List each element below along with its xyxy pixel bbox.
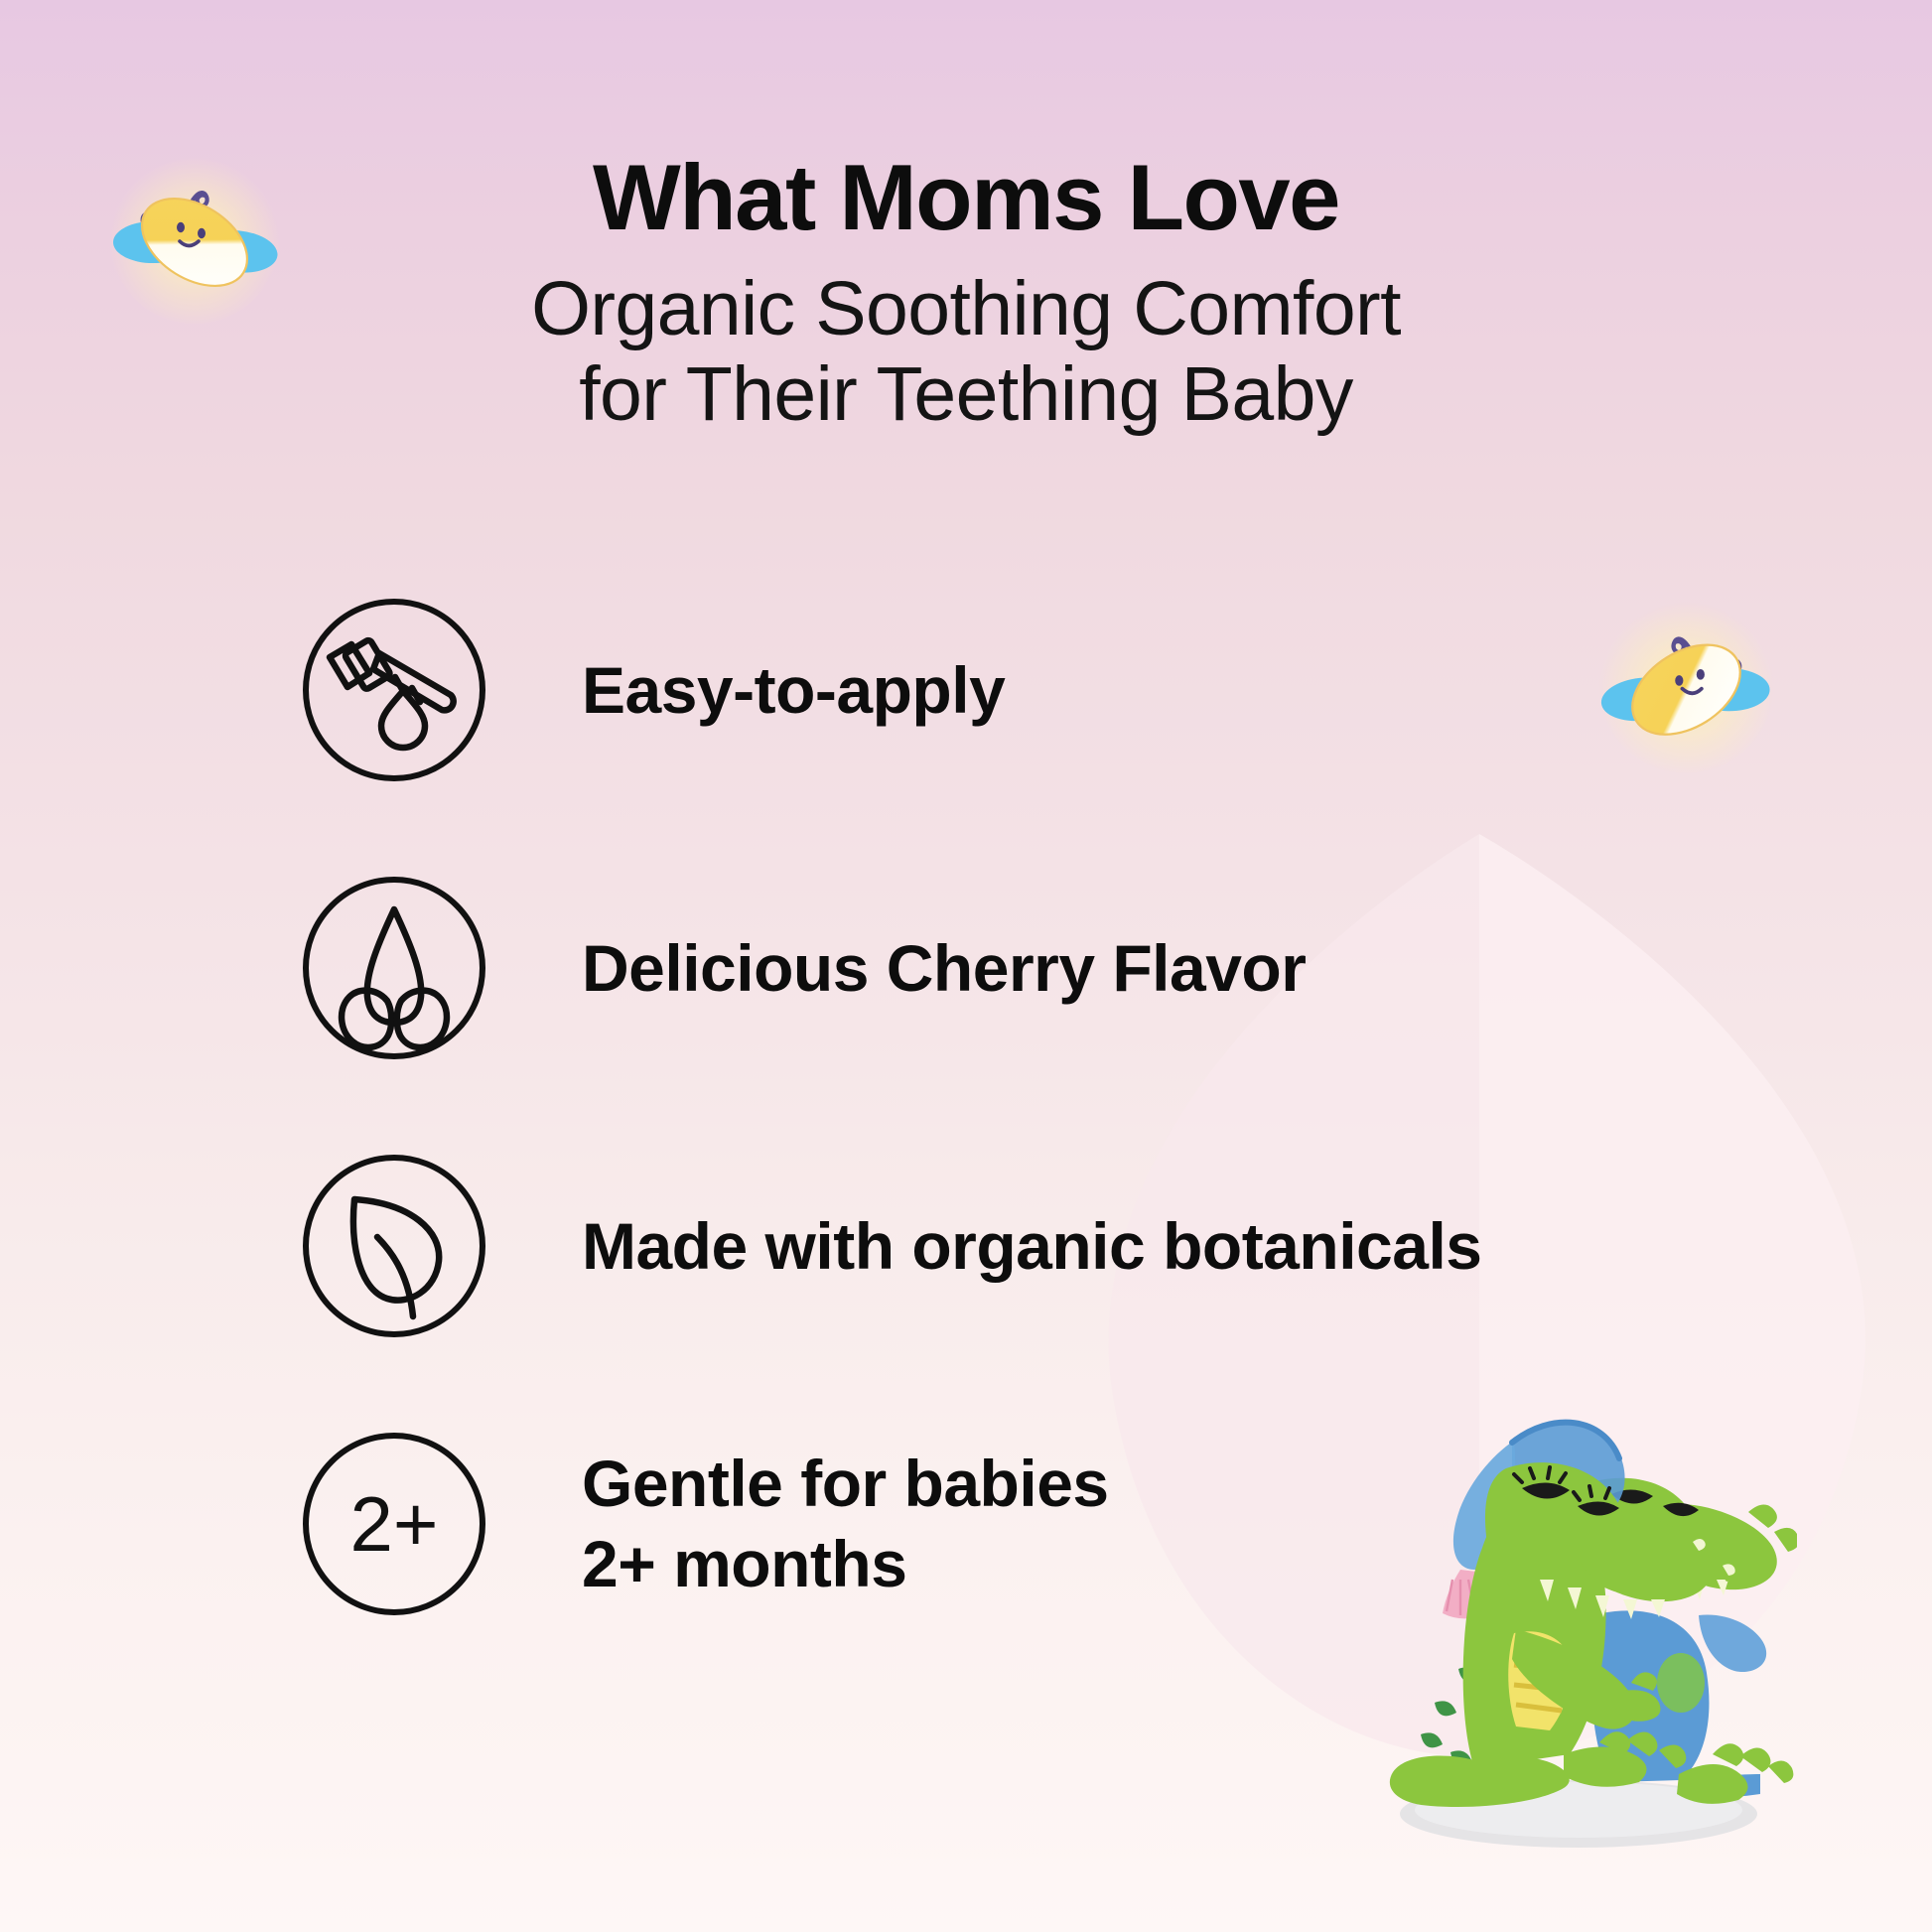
page-subtitle: Organic Soothing Comfort for Their Teeth… (0, 266, 1932, 437)
dropper-icon (300, 596, 488, 784)
list-item-label: Delicious Cherry Flavor (582, 928, 1306, 1009)
promo-poster: What Moms Love Organic Soothing Comfort … (0, 0, 1932, 1932)
list-item-label: Gentle for babies 2+ months (582, 1444, 1109, 1603)
list-item-label: Made with organic botanicals (582, 1206, 1482, 1287)
feature-list: Easy-to-apply Delicious Cherry Flavor (300, 596, 1789, 1618)
list-item: Easy-to-apply (300, 596, 1789, 784)
subtitle-line-1: Organic Soothing Comfort (0, 266, 1932, 351)
cherry-icon (300, 874, 488, 1062)
leaf-icon (300, 1152, 488, 1340)
page-title: What Moms Love (0, 151, 1932, 244)
list-item: 2+ Gentle for babies 2+ months (300, 1430, 1789, 1618)
age-2plus-icon: 2+ (300, 1430, 488, 1618)
list-item: Made with organic botanicals (300, 1152, 1789, 1340)
poster-header: What Moms Love Organic Soothing Comfort … (0, 0, 1932, 437)
list-item: Delicious Cherry Flavor (300, 874, 1789, 1062)
list-item-label: Easy-to-apply (582, 650, 1005, 731)
subtitle-line-2: for Their Teething Baby (0, 351, 1932, 437)
age-badge-text: 2+ (350, 1480, 439, 1568)
